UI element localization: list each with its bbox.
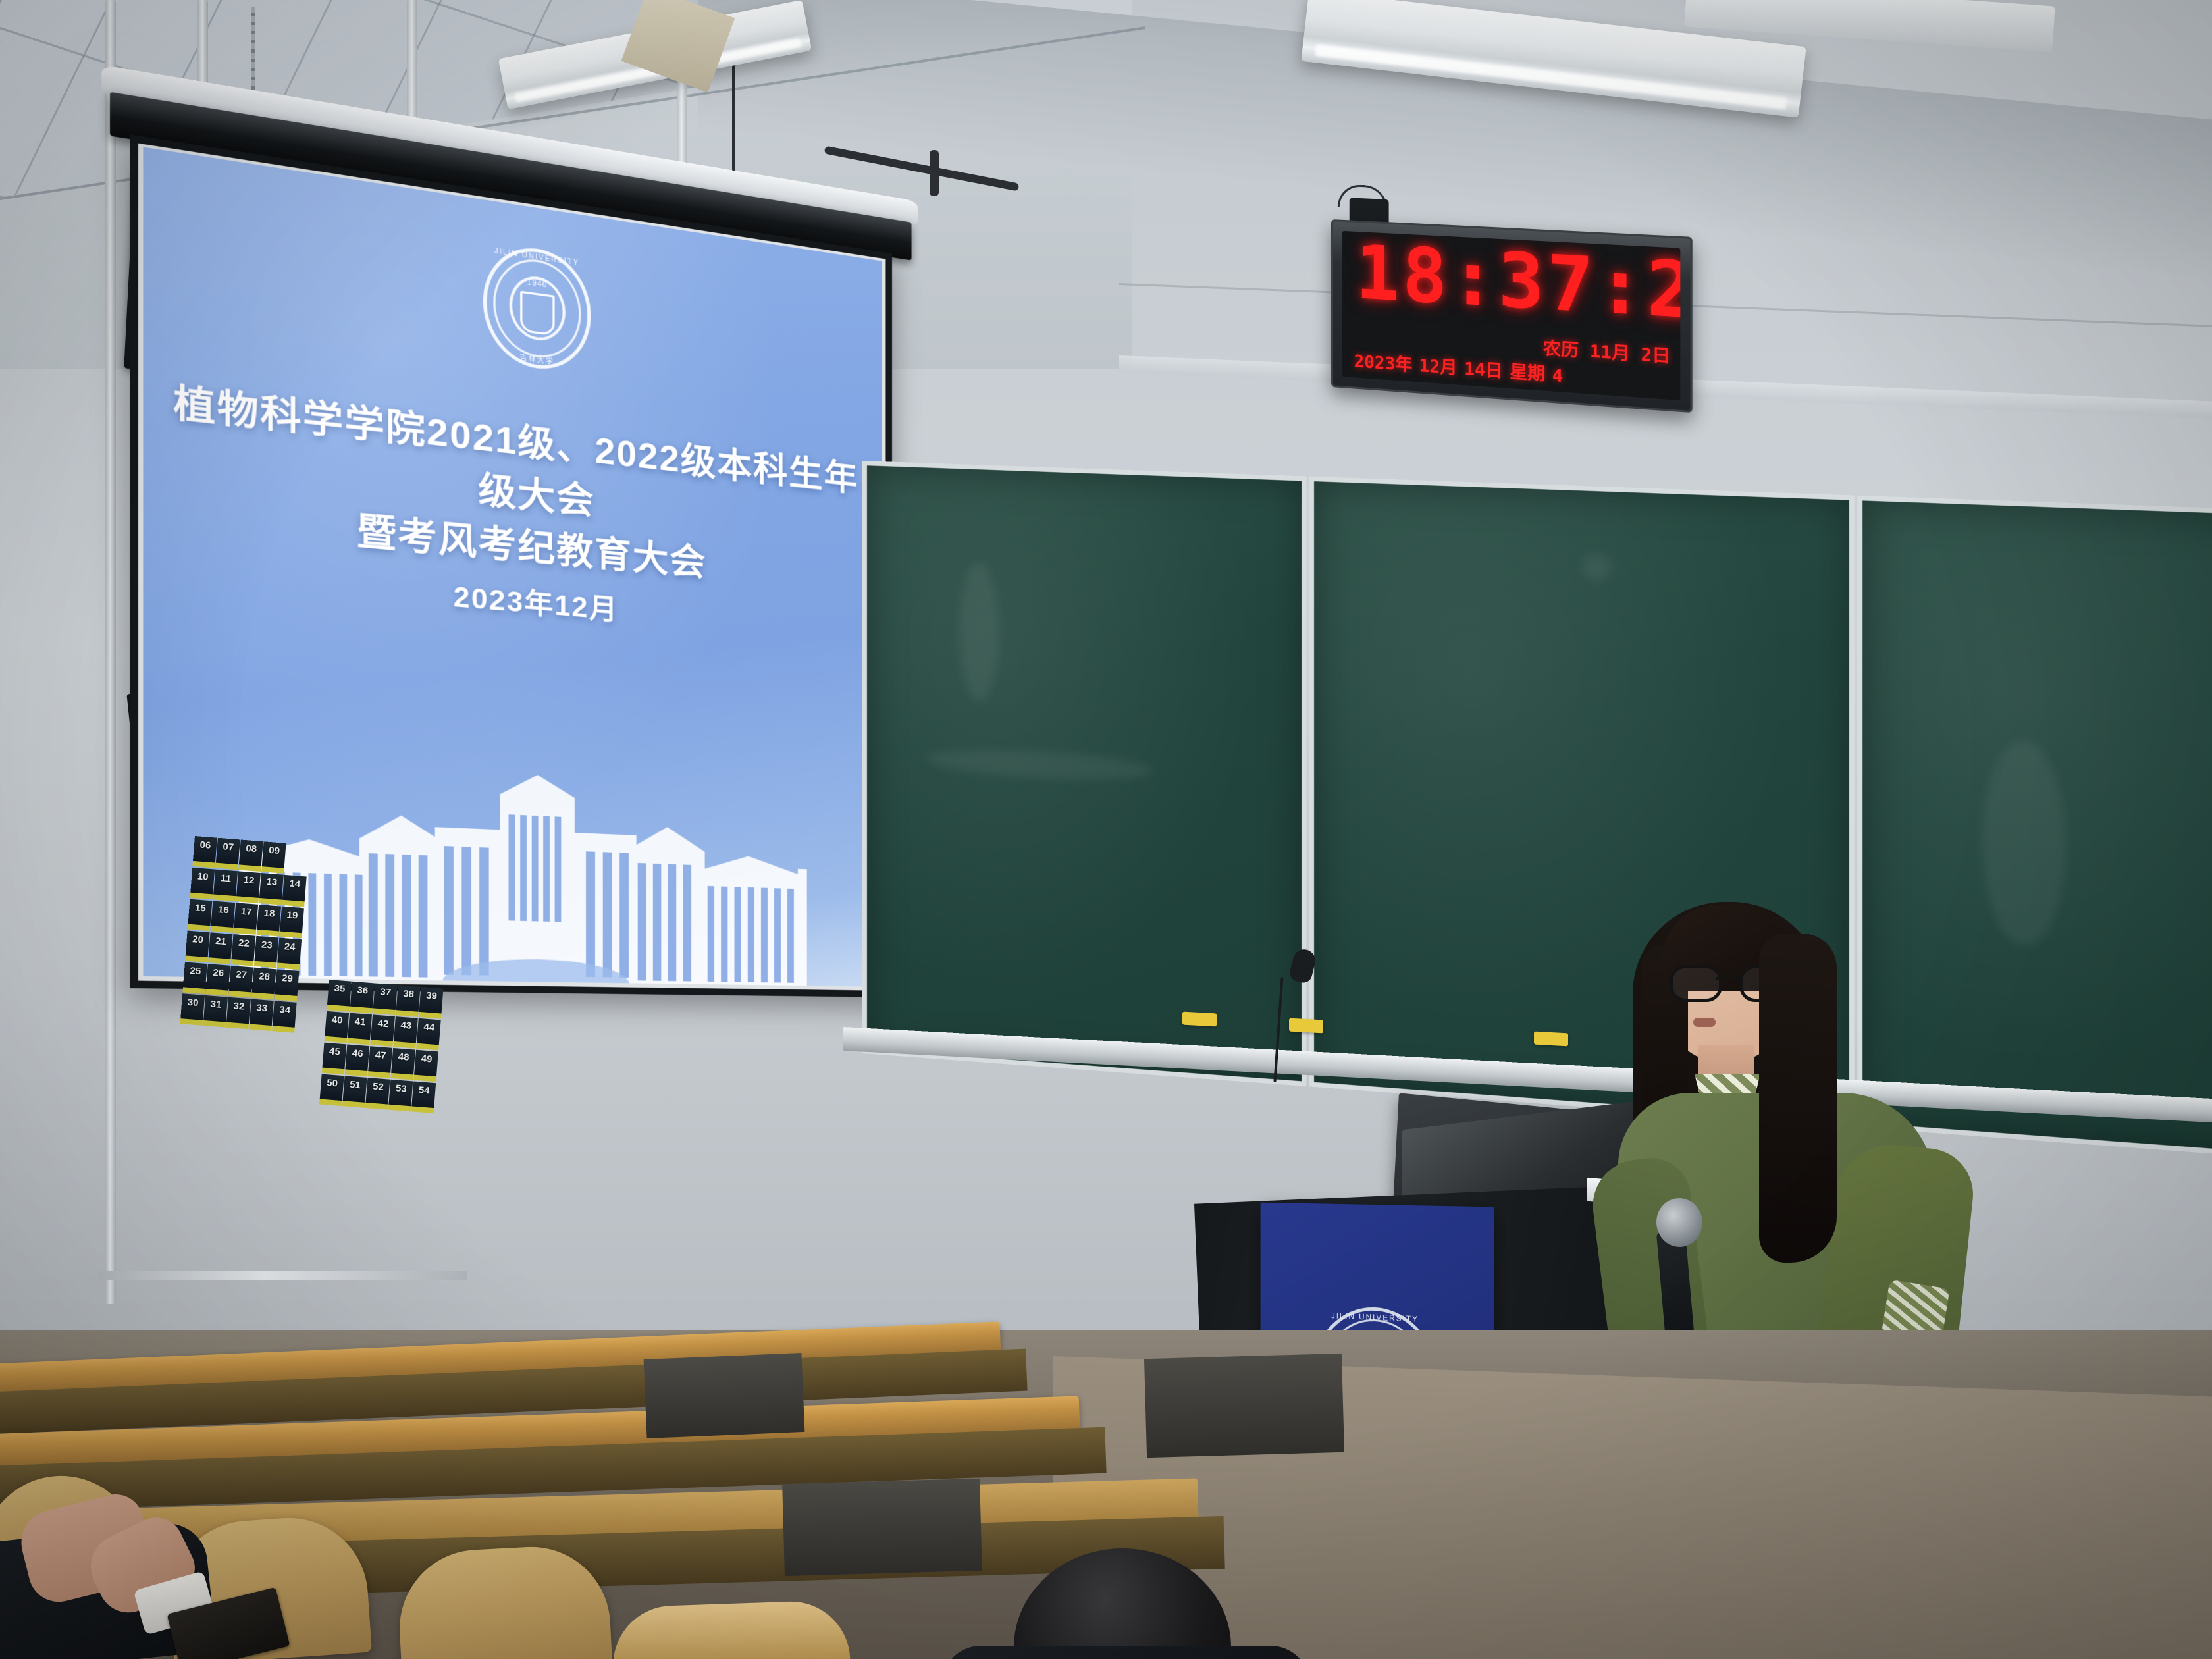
seat-number-pocket: 45 [322,1043,347,1075]
university-seal-icon: 1946 JILIN UNIVERSITY 吉林大学 [483,241,591,375]
chalk-holder-clip [1534,1032,1568,1047]
screen-support-rod [930,150,939,196]
seat-number-pocket: 37 [373,983,398,1015]
seat-number-pocket: 06 [192,836,217,868]
digital-wall-clock: 18:37:21 农历 11月 2日 2023年 12月 14日 星期 4 [1331,219,1693,413]
seat-number-pocket: 19 [279,907,304,939]
seat-number-pocket: 20 [185,931,210,963]
seat-number-pocket: 53 [388,1080,413,1112]
blackboard-panel [862,461,1306,1086]
seat-number-pocket: 47 [368,1046,393,1078]
chalk-holder-clip [1289,1018,1323,1034]
seat-number-pocket: 17 [234,903,259,935]
seat-number-pocket: 11 [213,870,238,902]
seat-number-pocket: 50 [319,1074,344,1107]
seat-number-pocket: 08 [238,839,263,872]
seat-number-pocket: 49 [413,1050,438,1082]
seat-number-pocket: 24 [277,938,302,970]
seat-number-pocket: 09 [261,841,286,874]
seat-number-pocket: 27 [228,966,253,998]
clock-time-display: 18:37:21 [1356,236,1681,334]
seat-number-pocket: 28 [251,968,276,1000]
seat-number-pocket: 16 [211,901,236,933]
seat-number-pocket: 31 [203,995,228,1028]
seat-number-pocket: 38 [396,985,421,1017]
seat-number-pocket: 41 [348,1013,373,1045]
seat-number-pocket: 22 [231,934,256,966]
aisle-step [782,1479,982,1576]
seat-number-pocket: 34 [272,1001,297,1033]
seat-number-pocket: 51 [342,1076,367,1108]
seat-number-pocket: 12 [236,871,261,903]
seat-number-pocket: 42 [370,1014,395,1047]
lecture-hall-photo: 1946 JILIN UNIVERSITY 吉林大学 植物科学学院2021级、2… [0,0,2212,1659]
clock-day: 14日 [1464,355,1503,382]
seat-number-pocket: 13 [259,873,284,905]
seat-number-pocket: 36 [350,982,375,1014]
seat-number-pocket: 32 [226,997,251,1030]
seat-number-pocket: 25 [182,962,207,994]
seat-number-pocket: 40 [325,1011,350,1043]
seat-number-pocket: 33 [249,999,274,1031]
seat-number-pocket: 48 [391,1048,416,1080]
presenter-mouth [1693,1018,1716,1027]
seat-number-pocket: 44 [416,1018,441,1051]
seat-number-pocket: 52 [365,1078,390,1110]
clock-lunar-label: 农历 [1543,338,1579,361]
presenter-hair-right [1759,934,1837,1263]
audience-member-shoulder [941,1646,1310,1659]
seat-number-pocket: 54 [411,1082,436,1114]
aisle-step [644,1353,805,1438]
clock-month: 12月 [1419,352,1458,379]
seat-number-pocket: 10 [190,868,215,900]
clock-lunar-month: 11月 [1590,342,1630,365]
chalk-holder-clip [1182,1012,1217,1027]
seat-number-pocket: 15 [188,899,213,932]
seat-number-pocket: 26 [205,964,230,996]
clock-weekday-label: 星期 [1510,358,1545,386]
clock-weekday-value: 4 [1552,365,1563,386]
wall-conduit-pipe-horizontal [99,1271,467,1280]
seat-number-pocket: 30 [180,993,205,1026]
seat-number-pocket: 39 [419,987,444,1019]
seat-number-pocket: 23 [254,936,279,968]
wall-conduit-pipe [105,0,116,1303]
aisle-step [1144,1354,1344,1458]
seat-number-pocket: 18 [257,905,282,937]
seat-number-pocket: 21 [208,932,233,964]
clock-lunar-day: 2日 [1641,345,1670,367]
clock-year: 2023年 [1354,348,1413,376]
seat-number-pocket: 43 [393,1016,418,1049]
seat-number-pocket: 35 [327,980,352,1012]
seat-number-pocket: 07 [215,838,240,870]
seat-number-pocket: 29 [275,969,300,1001]
seat-number-pocket: 46 [345,1044,370,1076]
seat-number-pocket: 14 [282,875,307,907]
